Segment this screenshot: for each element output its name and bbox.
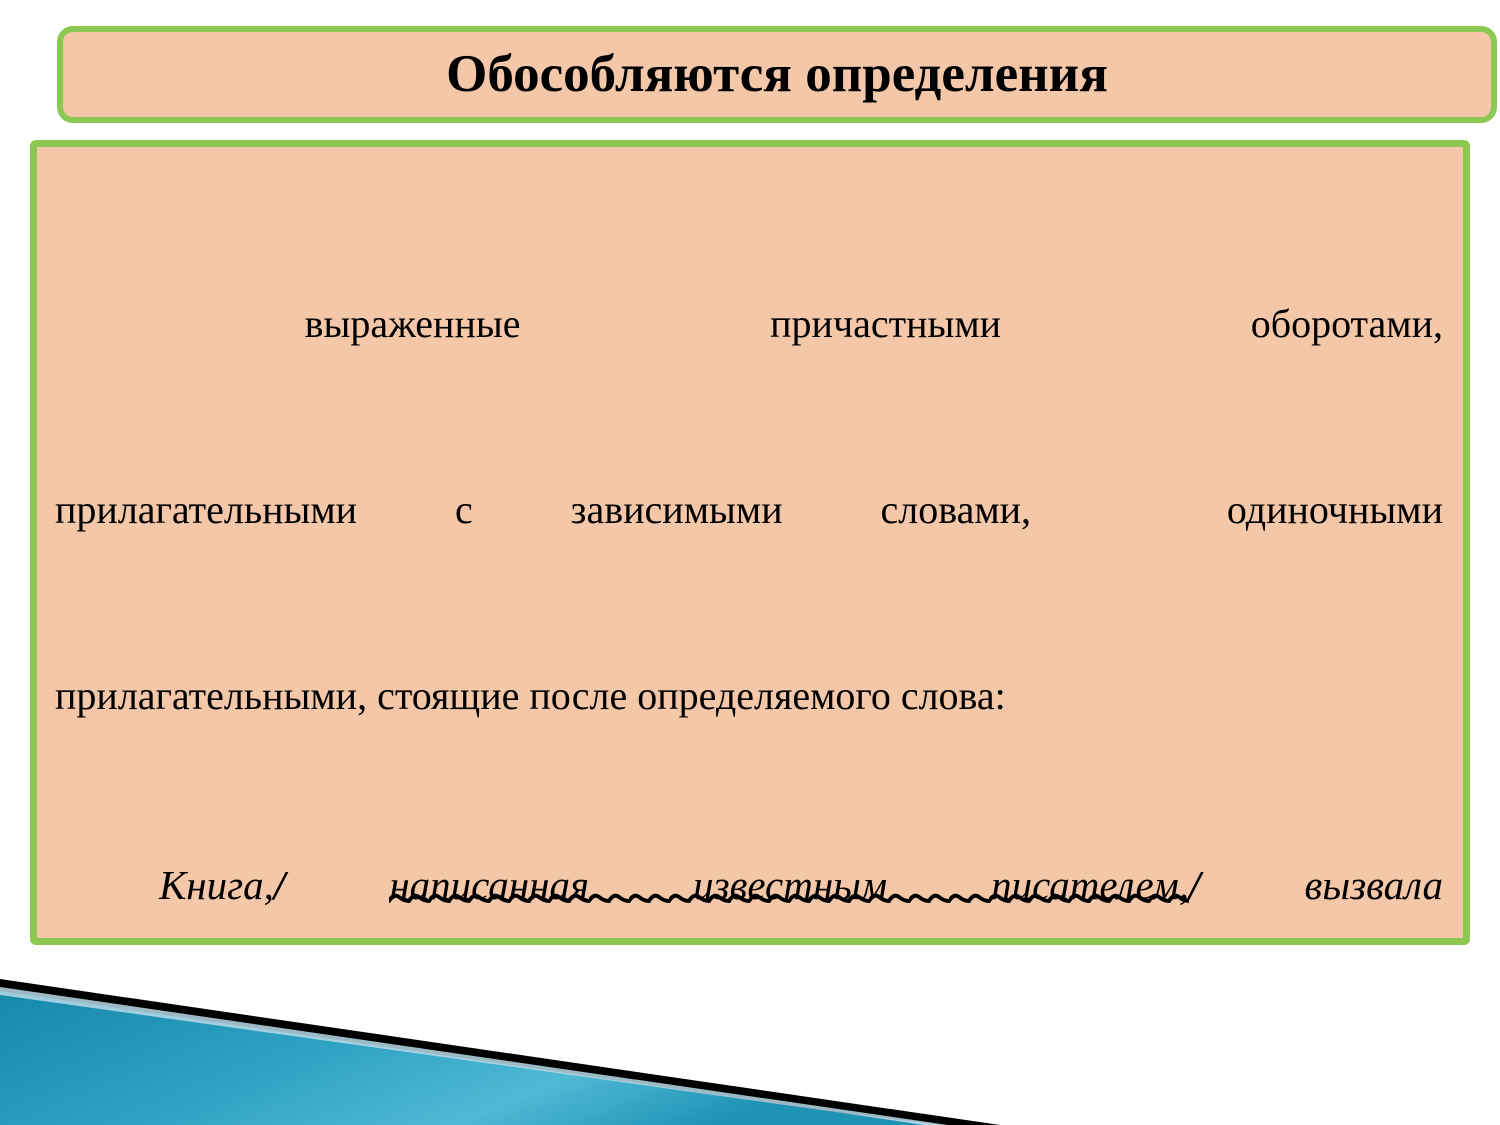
example-line-2: интерес у читающей публики. Гроза звенел… <box>55 920 1443 945</box>
rule-line-2: прилагательными с зависимыми словами, од… <box>55 479 1443 541</box>
rule-line-1: выраженные причастными оборотами, <box>55 293 1443 355</box>
slide-root: Обособляются определения выраженные прич… <box>0 0 1500 1125</box>
content-panel: выраженные причастными оборотами, прилаг… <box>30 140 1470 945</box>
deco-blue-wedge <box>0 991 925 1125</box>
corner-decoration <box>0 935 1000 1125</box>
corner-decoration-svg <box>0 935 1000 1125</box>
example-text: Книга, <box>55 862 274 908</box>
example-line-1: Книга,/ написанная известным писателем,/… <box>55 851 1443 920</box>
attribute-phrase: написанная известным писателем, <box>389 862 1189 908</box>
deco-highlight-line <box>0 987 948 1125</box>
boundary-slash: / <box>1432 931 1443 945</box>
examples-block: Книга,/ написанная известным писателем,/… <box>55 851 1443 945</box>
example-text: вызвала <box>1305 862 1443 908</box>
deco-pale-wedge <box>0 979 1000 1125</box>
boundary-slash: / <box>1189 862 1200 908</box>
boundary-slash: / <box>274 862 285 908</box>
example-text: интерес у читающей публики. Гроза звенел… <box>55 931 1432 945</box>
rule-paragraph: выраженные причастными оборотами, прилаг… <box>55 169 1443 851</box>
rule-line-3: прилагательными, стоящие после определяе… <box>55 665 1443 727</box>
deco-black-stripe <box>0 979 1000 1125</box>
title-banner: Обособляются определения <box>57 26 1497 123</box>
page-title: Обособляются определения <box>446 48 1108 101</box>
